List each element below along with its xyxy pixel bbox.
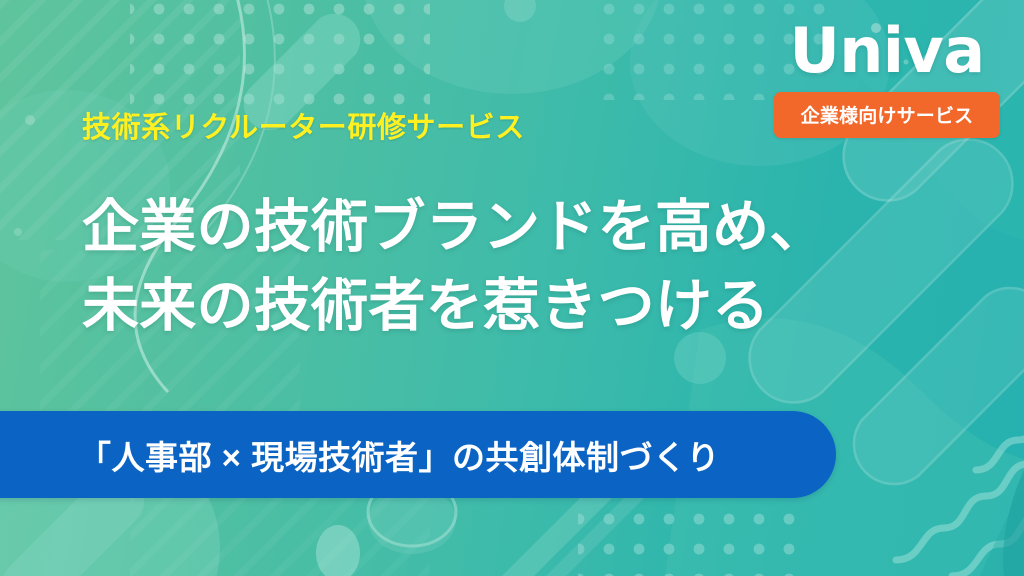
subtitle-banner: 「人事部 × 現場技術者」の共創体制づくり	[0, 411, 836, 498]
univa-logo: Univa	[774, 20, 1000, 82]
hero-content: 技術系リクルーター研修サービス 企業の技術ブランドを高め、 未来の技術者を惹きつ…	[0, 0, 1024, 576]
hero-banner-slide: 技術系リクルーター研修サービス 企業の技術ブランドを高め、 未来の技術者を惹きつ…	[0, 0, 1024, 576]
headline-line-2: 未来の技術者を惹きつける	[82, 267, 827, 346]
headline-line-1: 企業の技術ブランドを高め、	[82, 188, 827, 267]
eyebrow-text: 技術系リクルーター研修サービス	[82, 104, 525, 146]
status-badge: 企業様向けサービス	[774, 92, 1000, 138]
page-title: 企業の技術ブランドを高め、 未来の技術者を惹きつける	[82, 188, 827, 345]
subtitle-banner-text: 「人事部 × 現場技術者」の共創体制づくり	[78, 431, 720, 479]
brand-logo-block[interactable]: Univa 企業様向けサービス	[774, 20, 1000, 138]
